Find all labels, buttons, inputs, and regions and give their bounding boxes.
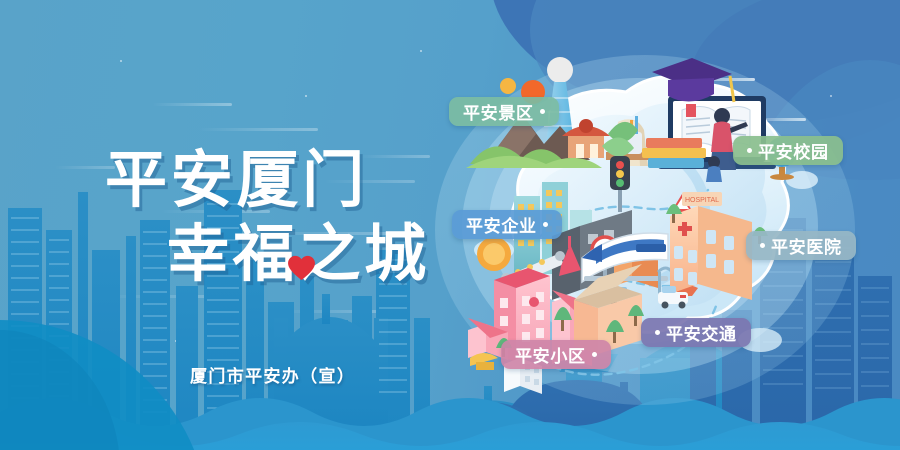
student-figure-icon — [706, 156, 722, 182]
label-dot-icon — [592, 352, 597, 357]
map-label-scenic-area-text: 平安景区 — [463, 99, 534, 124]
map-label-traffic[interactable]: 平安交通 — [641, 318, 751, 347]
map-label-enterprise[interactable]: 平安企业 — [452, 210, 562, 239]
label-dot-icon — [540, 109, 545, 114]
map-label-residential-text: 平安小区 — [515, 342, 586, 367]
observation-sphere-icon — [547, 57, 573, 83]
label-dot-icon — [747, 148, 752, 153]
map-label-enterprise-text: 平安企业 — [466, 212, 537, 237]
map-label-residential[interactable]: 平安小区 — [501, 340, 611, 369]
map-label-campus-text: 平安校园 — [758, 138, 829, 163]
poster-canvas: 60 — [0, 0, 900, 450]
book-stack-icon — [642, 138, 706, 168]
map-label-scenic-area[interactable]: 平安景区 — [449, 97, 559, 126]
label-dot-icon — [543, 222, 548, 227]
map-label-campus[interactable]: 平安校园 — [733, 136, 843, 165]
heart-icon — [287, 255, 316, 281]
map-label-hospital-text: 平安医院 — [771, 233, 842, 258]
map-label-hospital[interactable]: 平安医院 — [746, 231, 856, 260]
label-dot-icon — [655, 330, 660, 335]
publisher-subtitle: 厦门市平安办（宣） — [190, 362, 355, 387]
map-label-traffic-text: 平安交通 — [666, 320, 737, 345]
hospital-sign-text: HOSPITAL — [685, 197, 719, 204]
headline-block: 平安厦门 幸福之城 — [105, 150, 505, 286]
page-title-line1: 平安厦门 — [105, 150, 505, 212]
label-dot-icon — [760, 243, 765, 248]
